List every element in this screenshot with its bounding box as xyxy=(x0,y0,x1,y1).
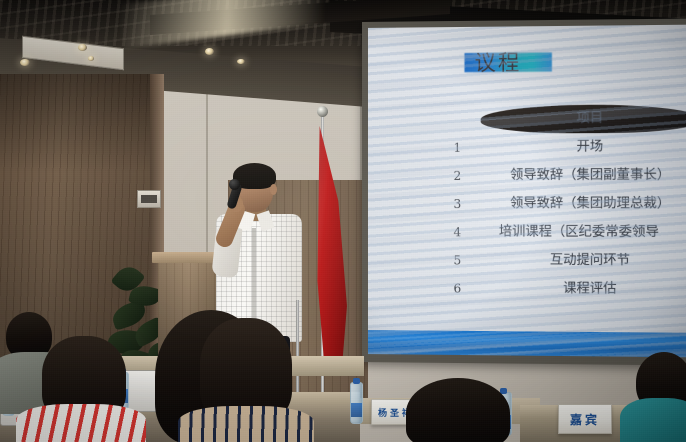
water-bottle[interactable] xyxy=(350,382,363,424)
agenda-row: 5 互动提问环节 xyxy=(388,246,686,276)
agenda-item-label: 领导致辞（集团助理总裁） xyxy=(481,190,686,219)
agenda-number: 6 xyxy=(448,274,466,302)
agenda-item-label: 培训课程（区纪委常委领导 xyxy=(485,218,659,247)
microphone-head-icon xyxy=(229,179,240,190)
guest-placard-text: 嘉宾 xyxy=(570,411,600,428)
agenda-number: 2 xyxy=(448,162,466,190)
agenda-number: 1 xyxy=(448,134,466,162)
flagpole-finial xyxy=(317,106,328,117)
projection-screen: 议程 项目 1 开场 2 领导致辞（集团副董事长） 3 领导致辞（集团助理总裁） xyxy=(362,19,686,366)
attendee-shoulders xyxy=(620,398,686,442)
slide-title: 议程 xyxy=(475,47,522,78)
agenda-number: 3 xyxy=(448,190,466,218)
attendee-shoulders xyxy=(16,404,146,442)
agenda-row-header: 项目 xyxy=(388,104,686,134)
downlight-icon xyxy=(88,56,94,61)
agenda-row: 3 领导致辞（集团助理总裁） xyxy=(388,190,686,219)
projection-screen-surface: 议程 项目 1 开场 2 领导致辞（集团副董事长） 3 领导致辞（集团助理总裁） xyxy=(368,25,686,358)
downlight-icon xyxy=(237,59,245,64)
agenda-item-label: 课程评估 xyxy=(481,275,686,305)
agenda-row: 4 培训课程（区纪委常委领导 xyxy=(388,218,686,247)
microphone-stand xyxy=(296,300,299,402)
agenda-number: 4 xyxy=(448,218,466,246)
downlight-icon xyxy=(78,44,87,51)
wall-control-panel[interactable] xyxy=(137,190,161,208)
speaker-ear xyxy=(270,184,277,195)
agenda-item-label: 开场 xyxy=(481,133,686,162)
conference-room-photo: 议程 项目 1 开场 2 领导致辞（集团副董事长） 3 领导致辞（集团助理总裁） xyxy=(0,0,686,442)
agenda-row: 6 课程评估 xyxy=(388,274,686,304)
agenda-row: 2 领导致辞（集团副董事长） xyxy=(388,161,686,190)
agenda-table: 项目 1 开场 2 领导致辞（集团副董事长） 3 领导致辞（集团助理总裁） 4 … xyxy=(388,104,686,304)
attendee-shoulders xyxy=(178,406,314,442)
agenda-row: 1 开场 xyxy=(388,133,686,162)
agenda-column-header: 项目 xyxy=(481,104,686,133)
agenda-number: 5 xyxy=(448,246,466,274)
downlight-icon xyxy=(205,48,214,55)
guest-placard: 嘉宾 xyxy=(558,404,612,434)
agenda-item-label: 领导致辞（集团副董事长） xyxy=(481,161,686,190)
downlight-icon xyxy=(20,59,30,66)
attendee-head xyxy=(406,378,510,442)
slide-bottom-bar xyxy=(368,330,686,357)
agenda-item-label: 互动提问环节 xyxy=(481,246,686,275)
